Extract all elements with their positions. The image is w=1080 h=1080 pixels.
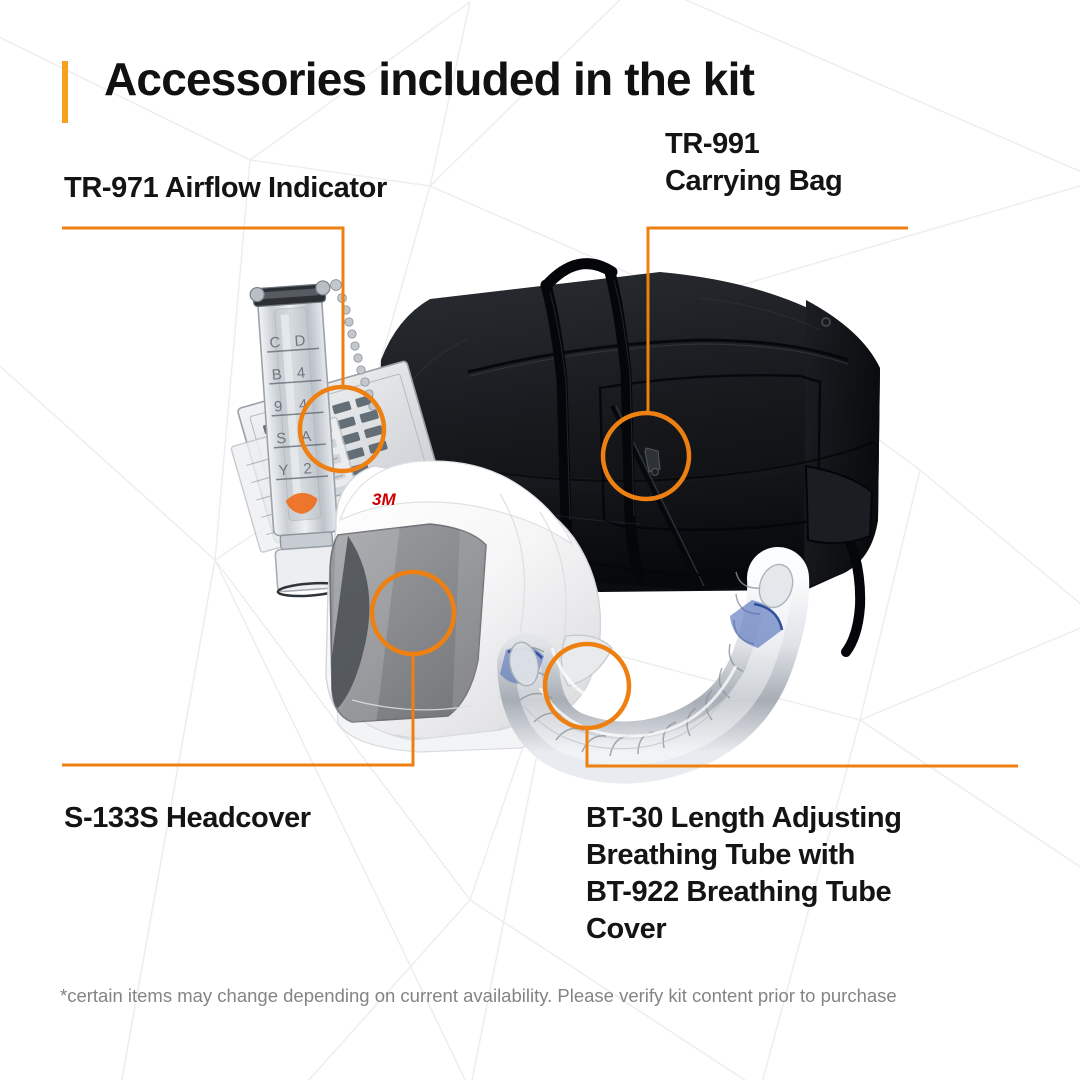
text-layer: Accessories included in the kit TR-971 A… [0,0,1080,1080]
callout-label-tr-971: TR-971 Airflow Indicator [64,170,387,207]
callout-label-line: Breathing Tube with [586,837,1016,874]
callout-label-line: S-133S Headcover [64,800,311,837]
callout-label-line: TR-991 [665,126,842,163]
infographic-canvas: CD B4 94 SA Y2 [0,0,1080,1080]
callout-label-line: BT-30 Length Adjusting [586,800,1016,837]
callout-label-line: BT-922 Breathing Tube [586,874,1016,911]
callout-label-line: Carrying Bag [665,163,842,200]
page-title: Accessories included in the kit [104,55,754,105]
title-accent-bar [62,61,68,123]
callout-label-line: Cover [586,911,1016,948]
callout-label-s-133s: S-133S Headcover [64,800,311,837]
callout-label-line: TR-971 Airflow Indicator [64,170,387,207]
footnote-disclaimer: *certain items may change depending on c… [60,983,1025,1009]
callout-label-bt-30: BT-30 Length Adjusting Breathing Tube wi… [586,800,1016,948]
callout-label-tr-991: TR-991 Carrying Bag [665,126,842,200]
